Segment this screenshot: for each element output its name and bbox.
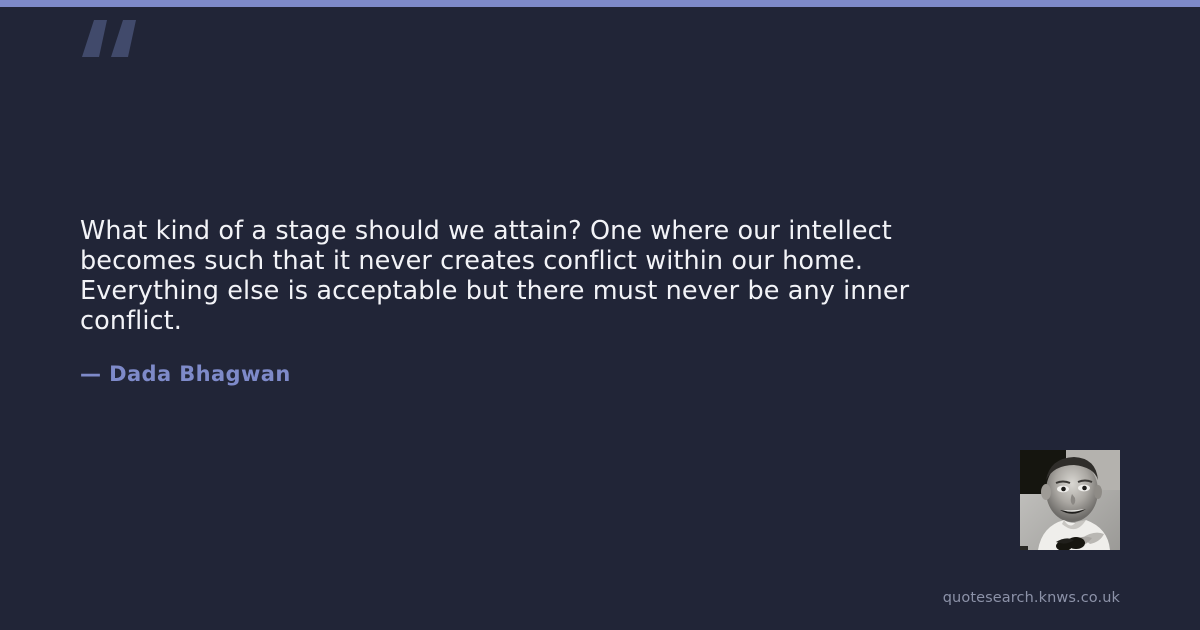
quote-mark-icon xyxy=(80,12,140,82)
quote-author: — Dada Bhagwan xyxy=(80,362,291,386)
accent-bar xyxy=(0,0,1200,7)
watermark-url: quotesearch.knws.co.uk xyxy=(943,590,1120,606)
author-label: — Dada Bhagwan xyxy=(80,362,291,386)
quote-card: What kind of a stage should we attain? O… xyxy=(0,0,1200,630)
quote-block: What kind of a stage should we attain? O… xyxy=(80,216,980,336)
author-portrait-photo xyxy=(1020,450,1120,550)
quote-text: What kind of a stage should we attain? O… xyxy=(80,216,980,336)
